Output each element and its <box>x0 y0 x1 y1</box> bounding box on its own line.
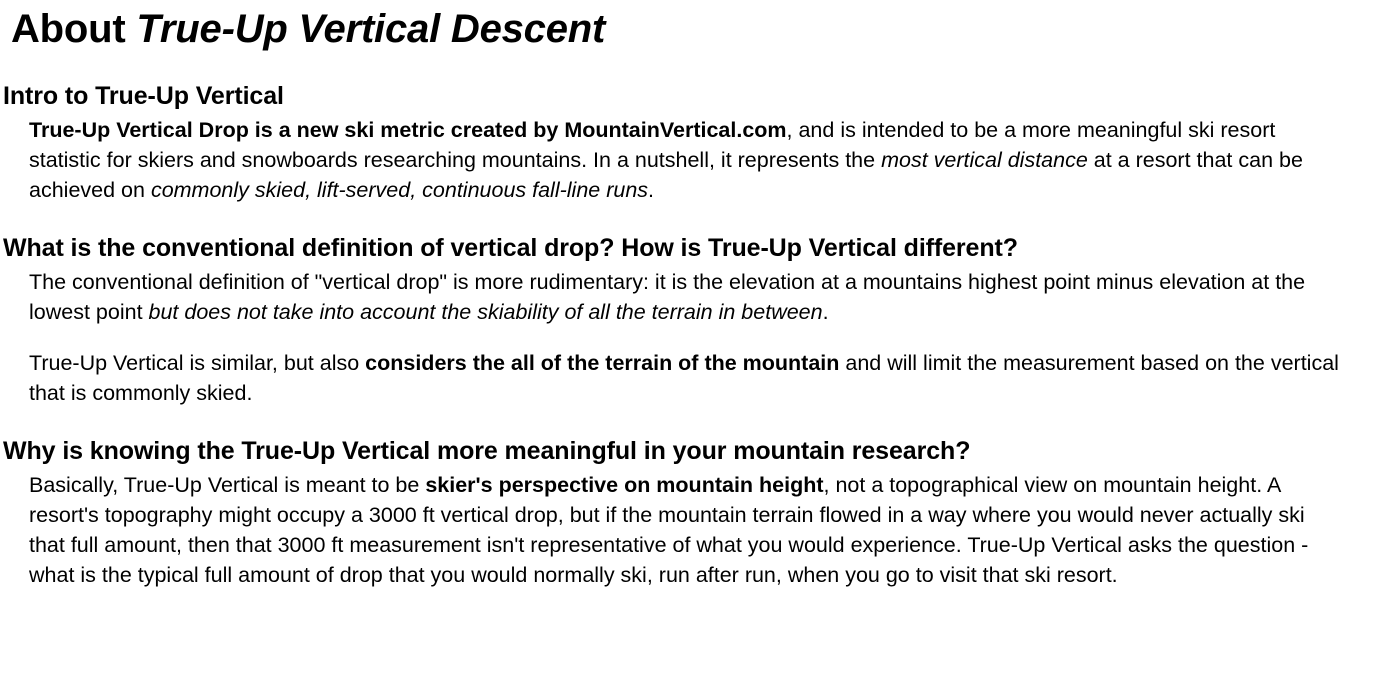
text-run-bold: True-Up Vertical Drop is a new ski metri… <box>29 118 787 142</box>
section-heading-intro: Intro to True-Up Vertical <box>3 81 1358 111</box>
text-run-bold: considers the all of the terrain of the … <box>365 351 839 375</box>
text-run-normal: Basically, True-Up Vertical is meant to … <box>29 473 425 497</box>
document-page: About True-Up Vertical Descent Intro to … <box>0 6 1376 590</box>
paragraph: True-Up Vertical is similar, but also co… <box>29 348 1345 408</box>
section-heading-why: Why is knowing the True-Up Vertical more… <box>3 436 1358 466</box>
section-why: Why is knowing the True-Up Vertical more… <box>3 436 1358 590</box>
section-definition: What is the conventional definition of v… <box>3 233 1358 408</box>
text-run-normal: True-Up Vertical is similar, but also <box>29 351 365 375</box>
section-body-intro: True-Up Vertical Drop is a new ski metri… <box>3 115 1358 205</box>
paragraph: True-Up Vertical Drop is a new ski metri… <box>29 115 1337 205</box>
section-body-why: Basically, True-Up Vertical is meant to … <box>3 470 1358 590</box>
text-run-normal: . <box>648 178 654 202</box>
page-title: About True-Up Vertical Descent <box>11 6 1358 53</box>
text-run-italic: most vertical distance <box>881 148 1088 172</box>
text-run-italic: but does not take into account the skiab… <box>149 300 823 324</box>
text-run-italic: commonly skied, lift-served, continuous … <box>151 178 648 202</box>
paragraph: Basically, True-Up Vertical is meant to … <box>29 470 1341 590</box>
page-title-prefix: About <box>11 7 136 51</box>
section-intro: Intro to True-Up VerticalTrue-Up Vertica… <box>3 81 1358 205</box>
sections-container: Intro to True-Up VerticalTrue-Up Vertica… <box>3 81 1358 590</box>
paragraph: The conventional definition of "vertical… <box>29 267 1345 327</box>
page-title-emphasis: True-Up Vertical Descent <box>136 7 605 51</box>
text-run-normal: . <box>823 300 829 324</box>
section-body-definition: The conventional definition of "vertical… <box>3 267 1358 408</box>
text-run-bold: skier's perspective on mountain height <box>425 473 823 497</box>
section-heading-definition: What is the conventional definition of v… <box>3 233 1358 263</box>
